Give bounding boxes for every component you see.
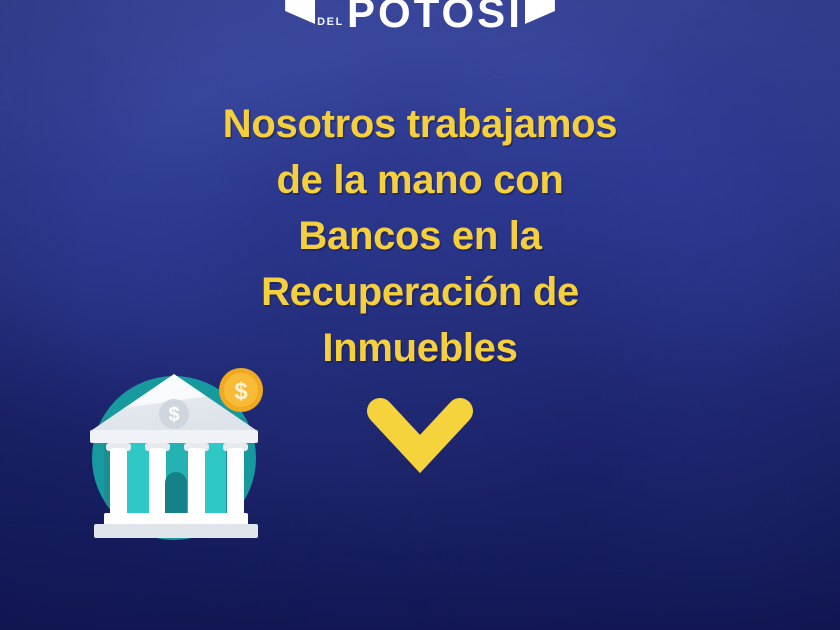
icon-doorway — [165, 472, 187, 516]
pediment-dollar-symbol: $ — [168, 404, 179, 426]
dollar-coin-icon: $ — [219, 368, 263, 412]
headline-line-4: Recuperación de — [120, 264, 720, 320]
chevron-mark-right-icon — [525, 0, 555, 24]
chevron-down-icon[interactable] — [367, 398, 473, 474]
logo-potosi-label: POTOSÍ — [347, 0, 523, 34]
headline-line-3: Bancos en la — [120, 208, 720, 264]
headline: Nosotros trabajamos de la mano con Banco… — [0, 96, 840, 376]
coin-dollar-symbol: $ — [234, 378, 248, 405]
headline-line-2: de la mano con — [120, 152, 720, 208]
brand-logo[interactable]: DEL POTOSÍ — [0, 0, 840, 34]
bank-building-icon: $ $ — [78, 358, 278, 554]
logo-del-label: DEL — [317, 16, 344, 28]
icon-base-step — [94, 524, 258, 538]
chevron-mark-left-icon — [285, 0, 315, 24]
social-media-graphic: DEL POTOSÍ Nosotros trabajamos de la man… — [0, 0, 840, 630]
headline-line-1: Nosotros trabajamos — [120, 96, 720, 152]
